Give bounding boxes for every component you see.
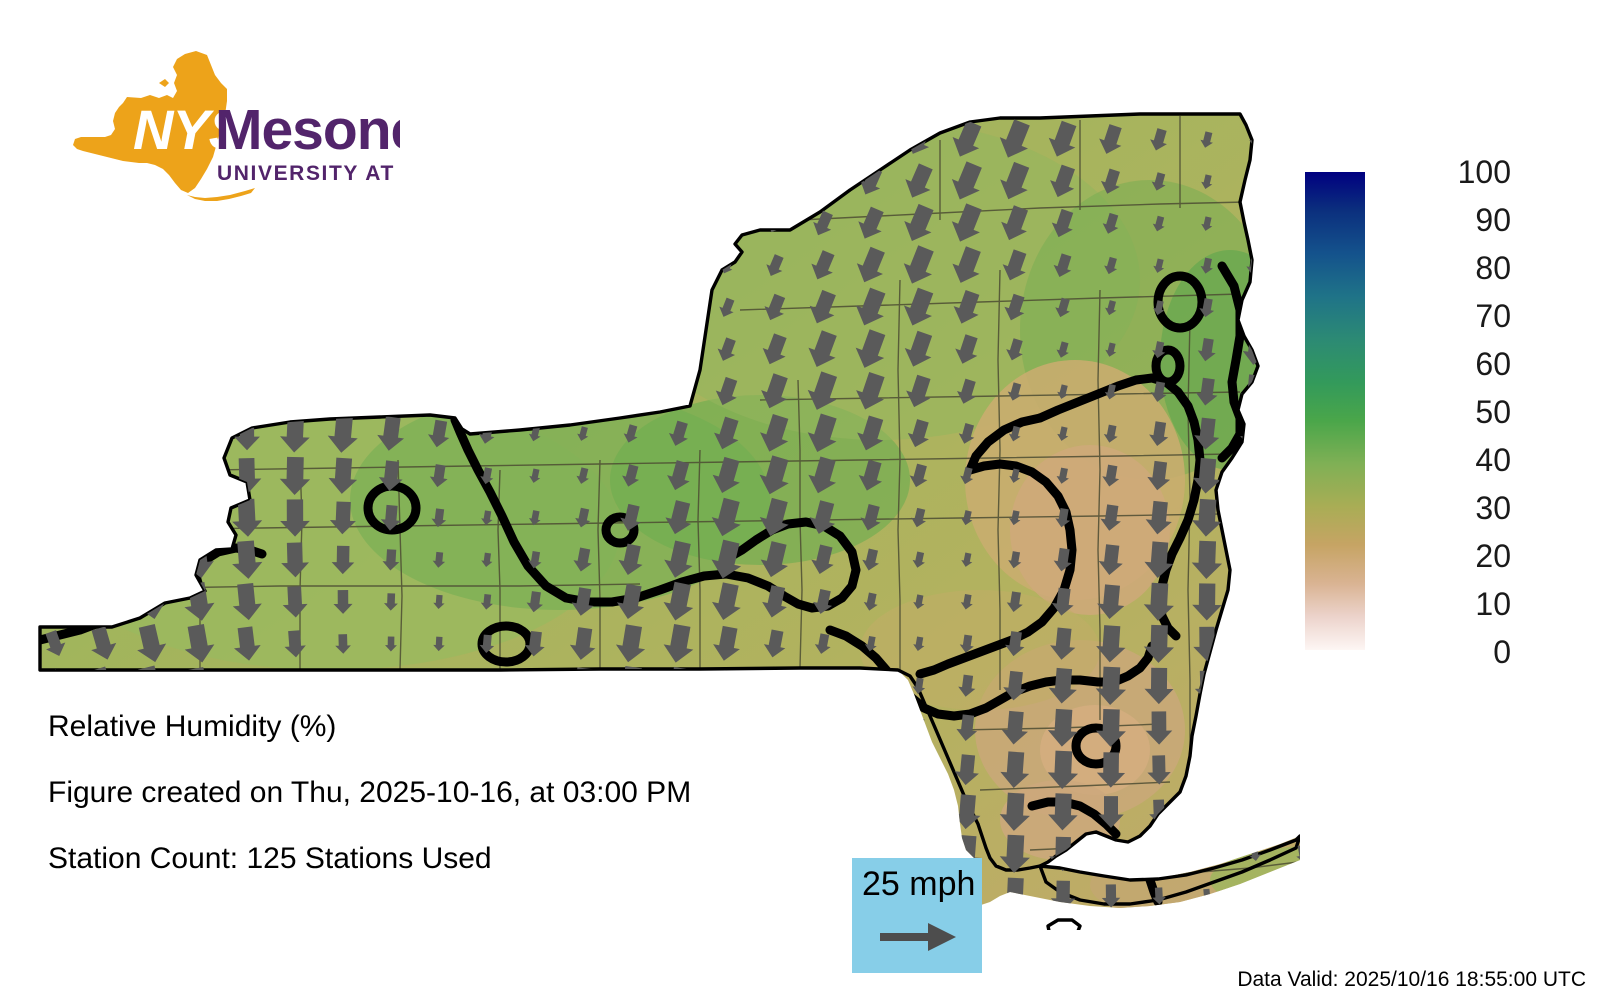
wind-arrow	[524, 337, 546, 362]
wind-arrow	[192, 173, 207, 191]
wind-arrow	[96, 384, 109, 399]
wind-arrow	[240, 131, 254, 148]
wind-arrow	[1199, 803, 1215, 822]
wind-arrow	[1296, 762, 1300, 778]
wind-arrow	[1243, 630, 1267, 659]
wind-arrow	[288, 173, 303, 190]
wind-arrow	[48, 468, 62, 484]
wind-arrow	[815, 677, 831, 696]
wind-arrow	[1248, 174, 1263, 191]
colorbar-tick-100: 100	[1401, 156, 1511, 188]
wind-arrow	[422, 330, 457, 370]
wind-arrow	[1248, 761, 1262, 778]
wind-arrow	[1289, 501, 1300, 535]
wind-arrow	[329, 249, 358, 282]
wind-arrow	[241, 174, 254, 189]
wind-arrow	[623, 342, 638, 359]
wind-arrow	[571, 252, 596, 280]
wind-arrow	[858, 126, 884, 155]
wind-arrow	[95, 298, 111, 318]
wind-arrow	[424, 374, 455, 410]
wind-arrow	[46, 550, 64, 571]
wind-arrow	[864, 720, 878, 736]
colorbar-tick-50: 50	[1401, 396, 1511, 428]
wind-arrow	[1248, 887, 1263, 904]
wind-arrow	[671, 299, 687, 317]
wind-arrow	[864, 678, 877, 694]
wind-arrow	[88, 585, 117, 618]
wind-arrow	[285, 674, 305, 698]
wind-arrow	[719, 173, 735, 191]
wind-arrow	[373, 329, 410, 372]
wind-arrow	[576, 384, 591, 401]
wind-arrow	[145, 343, 157, 358]
wind-arrow	[239, 298, 256, 319]
colorbar-tick-40: 40	[1401, 444, 1511, 476]
wind-arrow	[237, 338, 257, 363]
wind-arrow	[233, 670, 261, 703]
wind-arrow	[565, 163, 600, 202]
wind-arrow	[333, 170, 354, 194]
wind-arrow	[326, 330, 360, 370]
wind-arrow	[141, 464, 162, 489]
wind-arrow	[863, 761, 878, 779]
wind-arrow	[193, 216, 206, 231]
wind-arrow	[1247, 214, 1264, 234]
wind-arrow	[671, 257, 687, 274]
wind-arrow	[907, 797, 932, 827]
wind-arrow	[1287, 331, 1300, 369]
wind-arrow	[96, 426, 110, 442]
wind-arrow	[1240, 499, 1271, 537]
wind-arrow	[379, 126, 403, 154]
wind-arrow	[767, 131, 783, 148]
wind-arrow	[617, 167, 644, 197]
wind-arrow	[186, 460, 212, 492]
colorbar-tick-70: 70	[1401, 300, 1511, 332]
wind-arrow	[1196, 714, 1218, 741]
wind-arrow	[766, 173, 783, 192]
colorbar: 100 90 80 70 60 50 40 30 20 10 0	[1305, 172, 1575, 650]
wind-arrow	[1248, 804, 1261, 820]
wind-arrow	[622, 256, 640, 276]
wind-arrow	[1293, 884, 1300, 908]
data-valid-timestamp: Data Valid: 2025/10/16 18:55:00 UTC	[1237, 968, 1586, 992]
wind-arrow	[39, 162, 72, 201]
wind-arrow	[327, 289, 359, 326]
wind-arrow	[615, 122, 648, 158]
wind-arrow	[95, 467, 111, 486]
wind-arrow	[421, 161, 457, 202]
wind-arrow	[1243, 294, 1267, 322]
wind-arrow	[43, 294, 67, 322]
colorbar-gradient	[1305, 172, 1365, 650]
wind-arrow	[45, 338, 65, 361]
wind-arrow	[575, 341, 592, 360]
caption-stations: Station Count: 125 Stations Used	[48, 844, 828, 874]
wind-arrow	[1292, 589, 1300, 615]
wind-arrow	[563, 118, 602, 161]
wind-arrow	[718, 130, 736, 150]
wind-arrow	[620, 212, 642, 237]
wind-arrow	[713, 669, 742, 703]
colorbar-tick-60: 60	[1401, 348, 1511, 380]
wind-arrow	[1296, 720, 1300, 736]
wind-arrow	[47, 509, 62, 527]
wind-arrow	[514, 117, 556, 163]
wind-arrow	[1290, 545, 1300, 576]
wind-arrow	[1296, 804, 1300, 821]
wind-arrow	[1241, 542, 1270, 578]
wind-legend-label: 25 mph	[862, 864, 975, 904]
wind-arrow	[1246, 718, 1263, 739]
wind-arrow	[468, 245, 506, 288]
wind-arrow	[44, 589, 67, 614]
wind-arrow	[467, 118, 506, 162]
wind-arrow	[515, 160, 555, 205]
wind-arrow	[184, 500, 214, 536]
wind-arrow	[1239, 456, 1271, 495]
wind-arrow	[1150, 843, 1167, 864]
wind-arrow	[519, 248, 551, 284]
wind-arrow	[144, 258, 157, 274]
wind-arrow	[667, 127, 691, 154]
wind-arrow	[567, 667, 599, 706]
wind-arrow	[48, 426, 63, 443]
wind-arrow	[432, 678, 445, 695]
wind-arrow	[862, 801, 880, 823]
colorbar-tick-labels: 100 90 80 70 60 50 40 30 20 10 0	[1371, 148, 1571, 674]
wind-arrow	[1100, 840, 1122, 868]
figure-caption: Relative Humidity (%) Figure created on …	[48, 712, 828, 910]
wind-arrow	[38, 120, 71, 160]
wind-arrow	[477, 674, 496, 697]
wind-arrow	[326, 371, 361, 412]
wind-arrow	[1288, 458, 1300, 494]
wind-arrow	[143, 424, 160, 444]
wind-arrow	[671, 215, 688, 234]
wind-arrow	[377, 166, 406, 199]
right-arrow-icon	[880, 920, 958, 954]
wind-arrow	[285, 254, 306, 278]
wind-arrow	[139, 126, 162, 155]
wind-arrow	[240, 257, 254, 274]
wind-arrow	[909, 757, 930, 782]
wind-arrow	[93, 507, 113, 530]
wind-arrow	[669, 171, 689, 193]
wind-arrow	[91, 546, 115, 574]
wind-arrow	[1287, 373, 1300, 412]
colorbar-tick-10: 10	[1401, 588, 1511, 620]
wind-arrow	[522, 670, 548, 702]
colorbar-tick-30: 30	[1401, 492, 1511, 524]
wind-arrow	[281, 333, 309, 366]
wind-arrow	[136, 542, 166, 577]
wind-arrow	[145, 301, 157, 316]
wind-arrow	[813, 130, 832, 151]
wind-arrow	[472, 333, 501, 366]
wind-arrow	[192, 341, 206, 358]
wind-arrow	[811, 169, 834, 194]
wind-arrow	[331, 210, 356, 239]
wind-arrow	[764, 673, 786, 699]
wind-arrow	[1294, 171, 1300, 193]
wind-speed-legend: 25 mph	[852, 858, 982, 973]
wind-arrow	[92, 210, 115, 238]
wind-arrow	[573, 297, 593, 320]
caption-created: Figure created on Thu, 2025-10-16, at 03…	[48, 778, 828, 808]
wind-arrow	[1295, 677, 1300, 695]
wind-arrow	[372, 287, 409, 330]
wind-arrow	[336, 678, 350, 695]
wind-arrow	[193, 259, 205, 273]
wind-arrow	[283, 294, 307, 323]
wind-arrow	[475, 378, 499, 406]
wind-arrow	[96, 342, 110, 359]
caption-variable: Relative Humidity (%)	[48, 712, 828, 742]
wind-arrow	[1245, 674, 1265, 699]
wind-arrow	[521, 293, 548, 324]
wind-arrow	[568, 207, 598, 240]
wind-arrow	[280, 374, 310, 411]
wind-arrow	[93, 254, 112, 277]
wind-arrow	[1289, 291, 1300, 326]
wind-arrow	[613, 665, 648, 707]
wind-arrow	[188, 421, 210, 447]
wind-arrow	[1294, 633, 1300, 655]
wind-arrow	[41, 250, 68, 282]
wind-arrow	[1287, 415, 1300, 453]
wind-arrow	[1292, 211, 1300, 237]
wind-arrow	[138, 503, 163, 533]
wind-arrow	[623, 299, 639, 317]
colorbar-tick-80: 80	[1401, 252, 1511, 284]
wind-arrow	[39, 668, 72, 704]
wind-arrow	[190, 129, 208, 151]
wind-arrow	[193, 300, 205, 315]
wind-arrow	[375, 205, 408, 242]
colorbar-tick-20: 20	[1401, 540, 1511, 572]
wind-arrow	[423, 122, 456, 159]
wind-arrow	[516, 203, 553, 244]
wind-arrow	[89, 122, 118, 158]
wind-arrow	[90, 166, 116, 198]
wind-arrow	[623, 383, 639, 401]
wind-arrow	[526, 382, 544, 403]
wind-arrow	[662, 666, 696, 706]
wind-arrow	[1242, 586, 1269, 619]
wind-arrow	[47, 382, 64, 401]
wind-arrow	[470, 289, 504, 328]
wind-arrow	[334, 130, 351, 150]
wind-arrow	[420, 286, 458, 329]
wind-arrow	[182, 666, 217, 706]
wind-arrow	[373, 245, 409, 286]
wind-arrow	[235, 378, 258, 407]
wind-arrow	[1198, 759, 1217, 782]
wind-arrow	[419, 244, 458, 289]
wind-arrow	[668, 380, 690, 405]
wind-arrow	[288, 132, 302, 148]
wind-arrow	[719, 215, 735, 233]
colorbar-tick-0: 0	[1401, 636, 1511, 668]
wind-arrow	[144, 384, 158, 400]
wind-arrow	[286, 214, 303, 234]
wind-arrow	[467, 201, 507, 246]
wind-arrow	[374, 372, 409, 413]
wind-arrow	[385, 679, 396, 693]
wind-arrow	[1200, 846, 1213, 862]
wind-arrow	[1290, 251, 1300, 282]
wind-arrow	[420, 202, 459, 246]
wind-arrow	[190, 381, 207, 402]
wind-arrow	[141, 170, 160, 194]
wind-arrow	[143, 214, 159, 234]
colorbar-tick-90: 90	[1401, 204, 1511, 236]
wind-arrow	[40, 206, 70, 242]
wind-arrow	[670, 340, 688, 360]
wind-arrow	[467, 159, 508, 205]
wind-arrow	[1295, 131, 1300, 149]
wind-arrow	[241, 216, 254, 231]
